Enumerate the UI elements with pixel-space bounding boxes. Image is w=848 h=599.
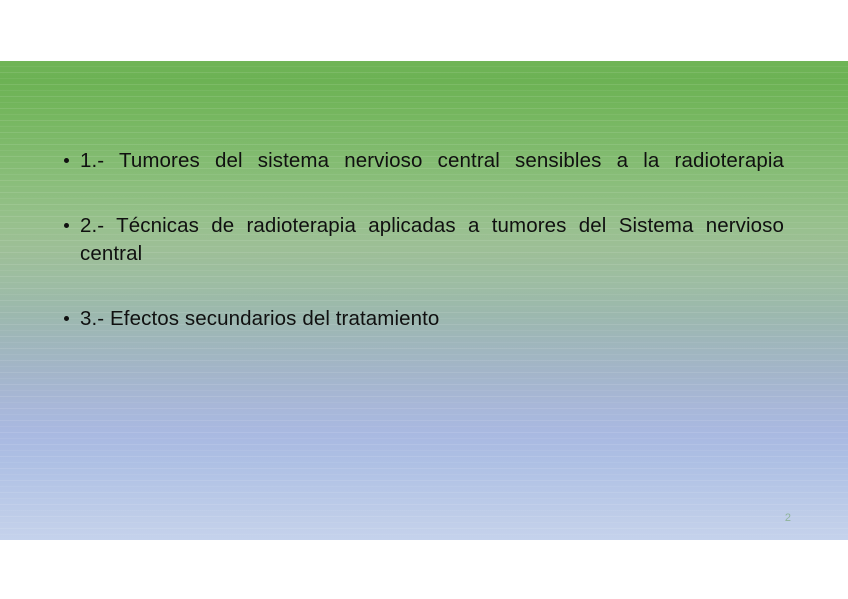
list-item: 3.- Efectos secundarios del tratamiento	[58, 305, 784, 333]
slide-canvas: 1.- Tumores del sistema nervioso central…	[0, 0, 848, 599]
list-item-label: 2.- Técnicas de radioterapia aplicadas a…	[80, 212, 784, 296]
bullet-dot-icon	[64, 158, 69, 163]
list-item: 2.- Técnicas de radioterapia aplicadas a…	[58, 212, 784, 296]
list-item-label: 1.- Tumores del sistema nervioso central…	[80, 147, 784, 203]
bullet-dot-icon	[64, 316, 69, 321]
slide-background: 1.- Tumores del sistema nervioso central…	[0, 61, 848, 540]
list-item-label: 3.- Efectos secundarios del tratamiento	[80, 305, 784, 333]
bullet-dot-icon	[64, 223, 69, 228]
page-number: 2	[785, 513, 791, 524]
list-item: 1.- Tumores del sistema nervioso central…	[58, 147, 784, 203]
slide-content-body: 1.- Tumores del sistema nervioso central…	[58, 147, 784, 333]
